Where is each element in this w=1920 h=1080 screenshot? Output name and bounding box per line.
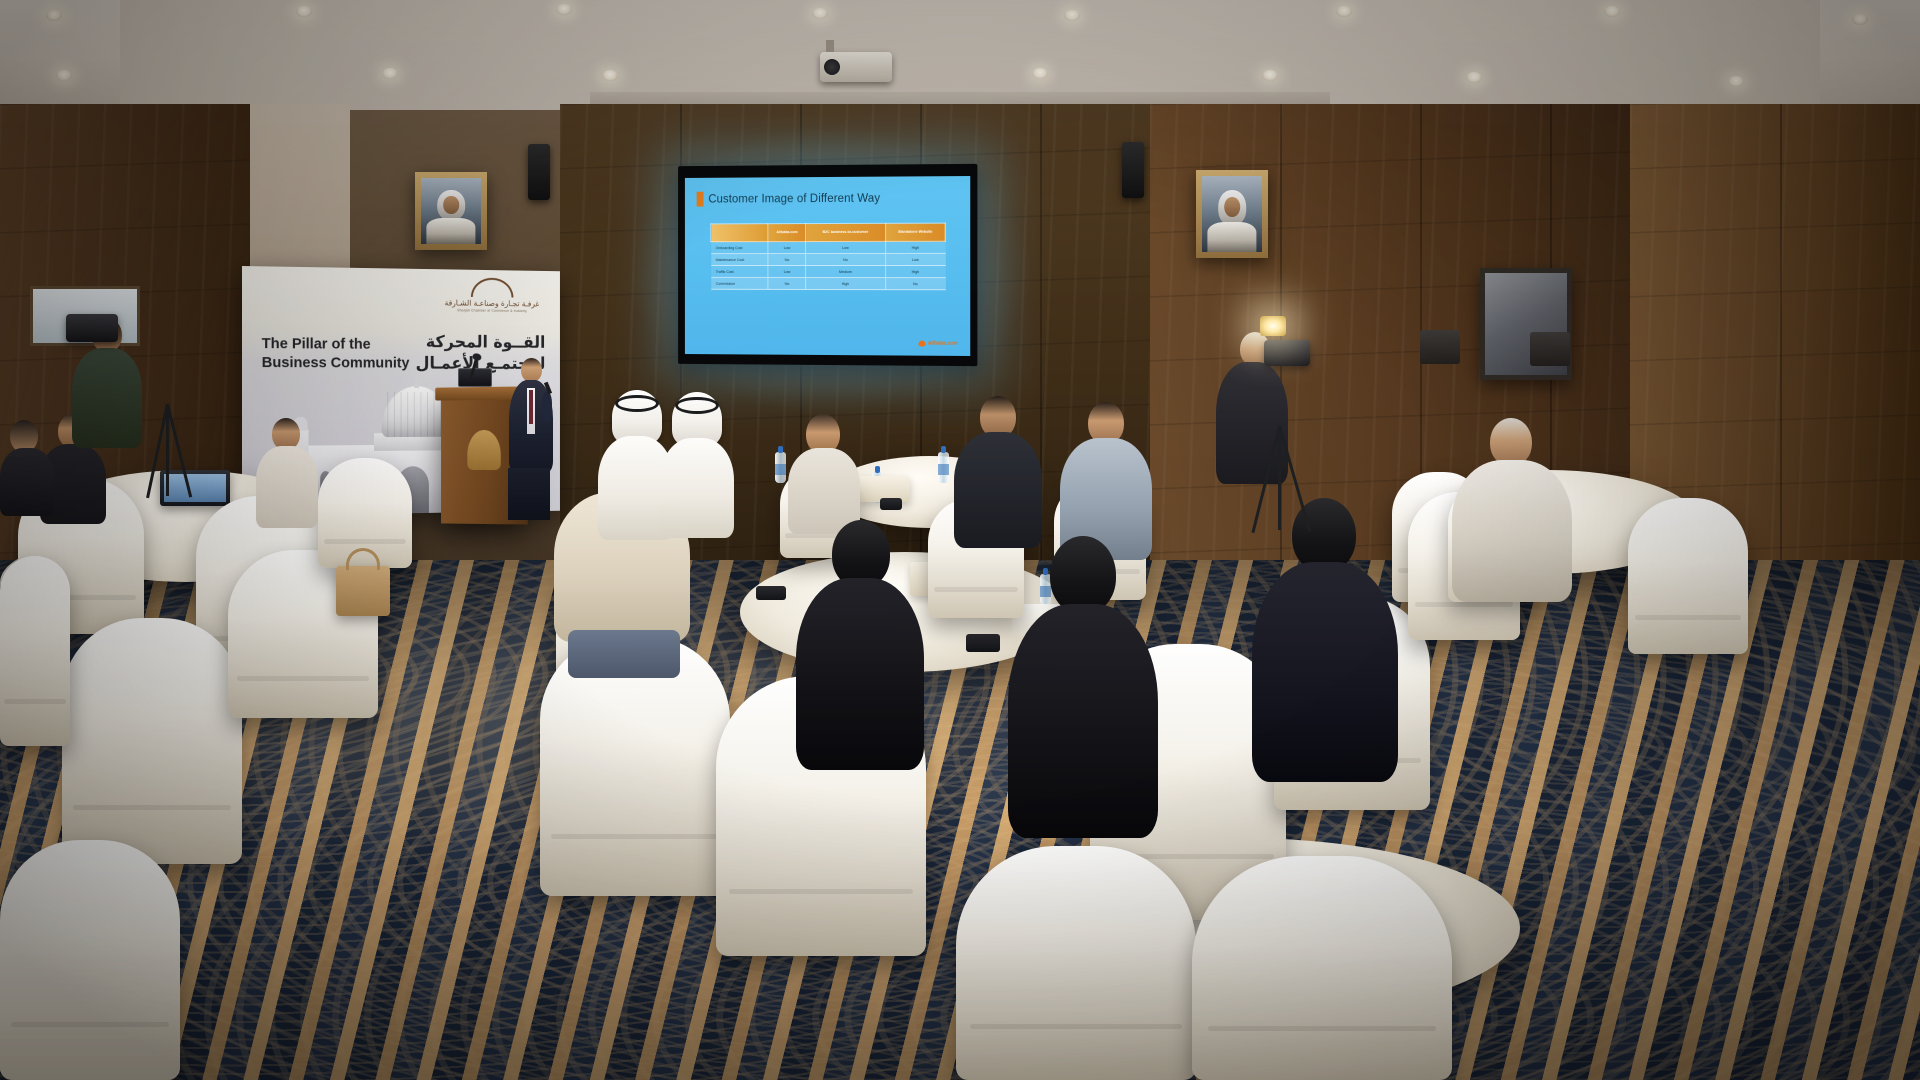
mobile-phone xyxy=(880,498,902,510)
comparison-table: Alibaba.com B2C business-to-customer Sta… xyxy=(710,223,945,291)
hijab xyxy=(1050,536,1116,614)
framed-portrait-right xyxy=(1196,170,1268,258)
table-cell: Low xyxy=(885,253,945,265)
table-row-label: Onboarding Cost xyxy=(711,242,768,254)
audience-member xyxy=(0,420,54,516)
downlight-icon xyxy=(602,70,618,81)
alibaba-logo-text: Alibaba.com xyxy=(928,341,958,347)
table-header-row: Alibaba.com B2C business-to-customer Sta… xyxy=(711,223,945,242)
mobile-phone xyxy=(966,634,1000,652)
table-cell: Medium xyxy=(806,265,885,277)
downlight-icon xyxy=(1466,72,1482,83)
table-col-header: B2C business-to-customer xyxy=(806,223,885,241)
agal-icon xyxy=(615,395,659,412)
projector-icon xyxy=(820,52,892,82)
downlight-icon xyxy=(382,68,398,79)
framed-portrait-left xyxy=(415,172,487,250)
table-cell: High xyxy=(885,266,945,278)
downlight-icon xyxy=(1604,6,1620,17)
table-row: Commission No High No xyxy=(711,277,945,289)
downlight-icon xyxy=(56,70,72,81)
audience-member xyxy=(1452,418,1572,598)
chair xyxy=(956,846,1196,1080)
presentation-slide: Customer Image of Different Way Alibaba.… xyxy=(685,176,970,356)
logo-arabic-text: غرفـة تجـارة وصناعـة الشـارقة xyxy=(437,298,546,308)
banner-headline-ar-line1: القــوة المحركة xyxy=(416,331,546,353)
table-cell: No xyxy=(768,254,806,266)
table-col-header: Alibaba.com xyxy=(768,224,806,242)
table-row: Onboarding Cost Low Low High xyxy=(711,241,945,253)
downlight-icon xyxy=(812,8,828,19)
audience-member xyxy=(954,396,1042,546)
alibaba-mark-icon xyxy=(919,341,926,347)
downlight-icon xyxy=(1262,70,1278,81)
audience-member-abaya xyxy=(1008,536,1158,836)
projection-screen: Customer Image of Different Way Alibaba.… xyxy=(678,164,977,366)
floor-lamp-right xyxy=(1530,332,1570,366)
downlight-icon xyxy=(1064,10,1080,21)
camera-light-icon xyxy=(1260,316,1286,336)
chair xyxy=(62,618,242,864)
table-cell: High xyxy=(806,277,885,289)
tripod-left xyxy=(128,404,208,500)
agal-icon xyxy=(675,397,719,414)
banner-headline-english: The Pillar of the Business Community xyxy=(262,334,410,373)
table-cell: Low xyxy=(806,241,885,253)
downlight-icon xyxy=(1032,68,1048,79)
video-camera-icon xyxy=(1264,340,1310,366)
laptop-screen xyxy=(458,368,492,387)
slide-title: Customer Image of Different Way xyxy=(708,192,880,205)
downlight-icon xyxy=(1852,14,1868,25)
table-col-header: Standalone Website xyxy=(885,223,945,241)
alibaba-logo: Alibaba.com xyxy=(919,341,958,347)
audience-member-abaya xyxy=(796,520,924,770)
water-bottle xyxy=(775,452,786,483)
table-row: Traffic Cost Low Medium High xyxy=(711,265,945,277)
audience-member xyxy=(256,418,318,528)
slide-title-row: Customer Image of Different Way xyxy=(697,191,881,207)
downlight-icon xyxy=(1728,76,1744,87)
banner-headline-line1: The Pillar of the xyxy=(262,334,410,354)
downlight-icon xyxy=(296,6,312,17)
sharjah-chamber-logo: غرفـة تجـارة وصناعـة الشـارقة Sharjah Ch… xyxy=(437,277,546,313)
arch-icon xyxy=(471,278,513,298)
handbag xyxy=(336,566,390,616)
conference-room-photo: Customer Image of Different Way Alibaba.… xyxy=(0,0,1920,1080)
mobile-phone xyxy=(756,586,786,600)
table-row: Maintenance Cost No No Low xyxy=(711,253,945,265)
projector-lens-icon xyxy=(824,59,840,75)
video-camera-icon xyxy=(66,314,118,342)
podium-crest-icon xyxy=(467,430,500,470)
wall-speaker-right xyxy=(1122,142,1144,198)
banner-headline-line2: Business Community xyxy=(262,353,410,373)
table-row-label: Maintenance Cost xyxy=(711,254,768,266)
downlight-icon xyxy=(1336,6,1352,17)
table-cell: No xyxy=(768,277,806,289)
tripod-right xyxy=(1232,426,1328,536)
presenter xyxy=(508,358,554,518)
chair xyxy=(0,840,180,1080)
chair xyxy=(1192,856,1452,1080)
table-cell: High xyxy=(885,241,945,253)
presenter-head xyxy=(521,358,542,382)
chair xyxy=(1628,498,1748,654)
downlight-icon xyxy=(46,10,62,21)
table-cell: Low xyxy=(768,242,806,254)
presenter-arm xyxy=(542,392,552,422)
water-bottle xyxy=(938,452,949,483)
slide-accent-bar xyxy=(697,192,704,207)
audience-member-abaya xyxy=(1252,498,1398,780)
chair xyxy=(0,556,70,746)
table-row-label: Traffic Cost xyxy=(711,265,768,277)
presenter-legs xyxy=(508,468,550,520)
floor-lamp-left xyxy=(1420,330,1460,364)
table-cell: No xyxy=(885,278,945,290)
table-corner-cell xyxy=(711,224,768,242)
presenter-tie xyxy=(529,390,533,424)
audience-member-kandura xyxy=(660,392,734,538)
table-cell: Low xyxy=(768,265,806,277)
downlight-icon xyxy=(556,4,572,15)
audience-member xyxy=(788,414,860,530)
table-cell: No xyxy=(806,253,885,265)
wall-speaker-left xyxy=(528,144,550,200)
table-row-label: Commission xyxy=(711,277,768,289)
